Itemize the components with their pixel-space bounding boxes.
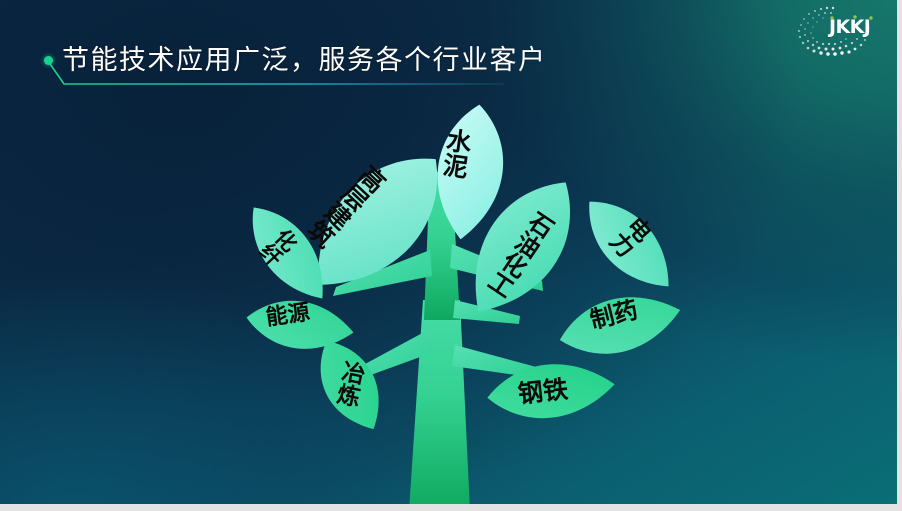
slide-title-block: 节能技术应用广泛，服务各个行业客户 — [44, 38, 684, 90]
logo-dot-accents-icon — [829, 14, 875, 22]
presentation-slide: JKKJ 节能技术应用广泛，服务各个行业客户 — [0, 0, 902, 511]
page-title: 节能技术应用广泛，服务各个行业客户 — [62, 38, 547, 77]
leaf-label-gangtie: 钢铁 — [517, 376, 569, 407]
leaf-label-shuini: 水泥 — [440, 126, 472, 179]
title-bullet-dot-icon — [44, 56, 53, 65]
company-logo: JKKJ — [793, 4, 879, 62]
